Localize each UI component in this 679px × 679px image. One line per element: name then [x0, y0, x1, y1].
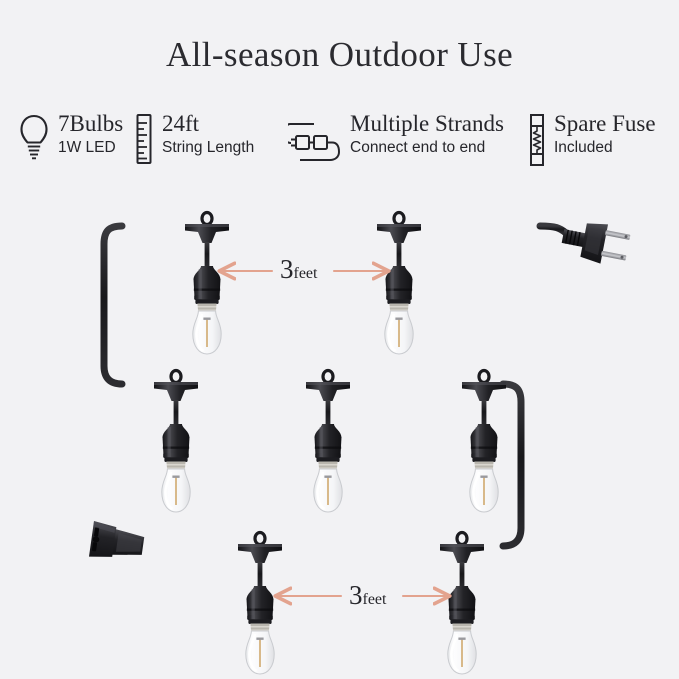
spacing-label-bottom: 3feet — [349, 582, 386, 609]
feature-length: 24ft String Length — [134, 112, 254, 170]
feature-strands: Multiple Strands Connect end to end — [288, 112, 504, 172]
ruler-icon — [134, 113, 154, 170]
feature-bulbs: 7Bulbs 1W LED — [18, 112, 123, 168]
plug-connect-icon — [288, 113, 342, 172]
feature-length-sub: String Length — [162, 138, 254, 157]
feature-row: 7Bulbs 1W LED 24ft String — [0, 110, 679, 176]
feature-strands-main: Multiple Strands — [350, 112, 504, 136]
feature-strands-sub: Connect end to end — [350, 138, 504, 157]
spacing-label-top-number: 3 — [280, 254, 294, 284]
fuse-icon — [528, 113, 546, 172]
feature-fuse: Spare Fuse Included — [528, 112, 656, 172]
page-title: All-season Outdoor Use — [0, 36, 679, 75]
feature-bulbs-sub: 1W LED — [58, 138, 123, 157]
feature-fuse-main: Spare Fuse — [554, 112, 656, 136]
spacing-label-top: 3feet — [280, 256, 317, 283]
feature-fuse-sub: Included — [554, 138, 656, 157]
spacing-label-top-unit: feet — [294, 265, 318, 282]
bulb-assembly — [238, 533, 282, 675]
spacing-label-bottom-number: 3 — [349, 580, 363, 610]
spacing-label-bottom-unit: feet — [363, 591, 387, 608]
female-receptacle — [89, 521, 146, 564]
feature-bulbs-main: 7Bulbs — [58, 112, 123, 136]
infographic-page: All-season Outdoor Use 7Bulbs 1W LED — [0, 0, 679, 679]
light-bulb-icon — [18, 113, 50, 168]
bulb-assembly — [440, 533, 484, 675]
feature-length-main: 24ft — [162, 112, 254, 136]
bulb-assembly — [377, 213, 421, 355]
string-light-diagram — [0, 0, 679, 679]
cord-path — [104, 226, 566, 546]
male-plug — [559, 216, 631, 268]
bulb-assembly — [185, 213, 229, 355]
bulb-assembly — [306, 371, 350, 513]
bulb-assembly — [154, 371, 198, 513]
bulb-assembly — [462, 371, 506, 513]
